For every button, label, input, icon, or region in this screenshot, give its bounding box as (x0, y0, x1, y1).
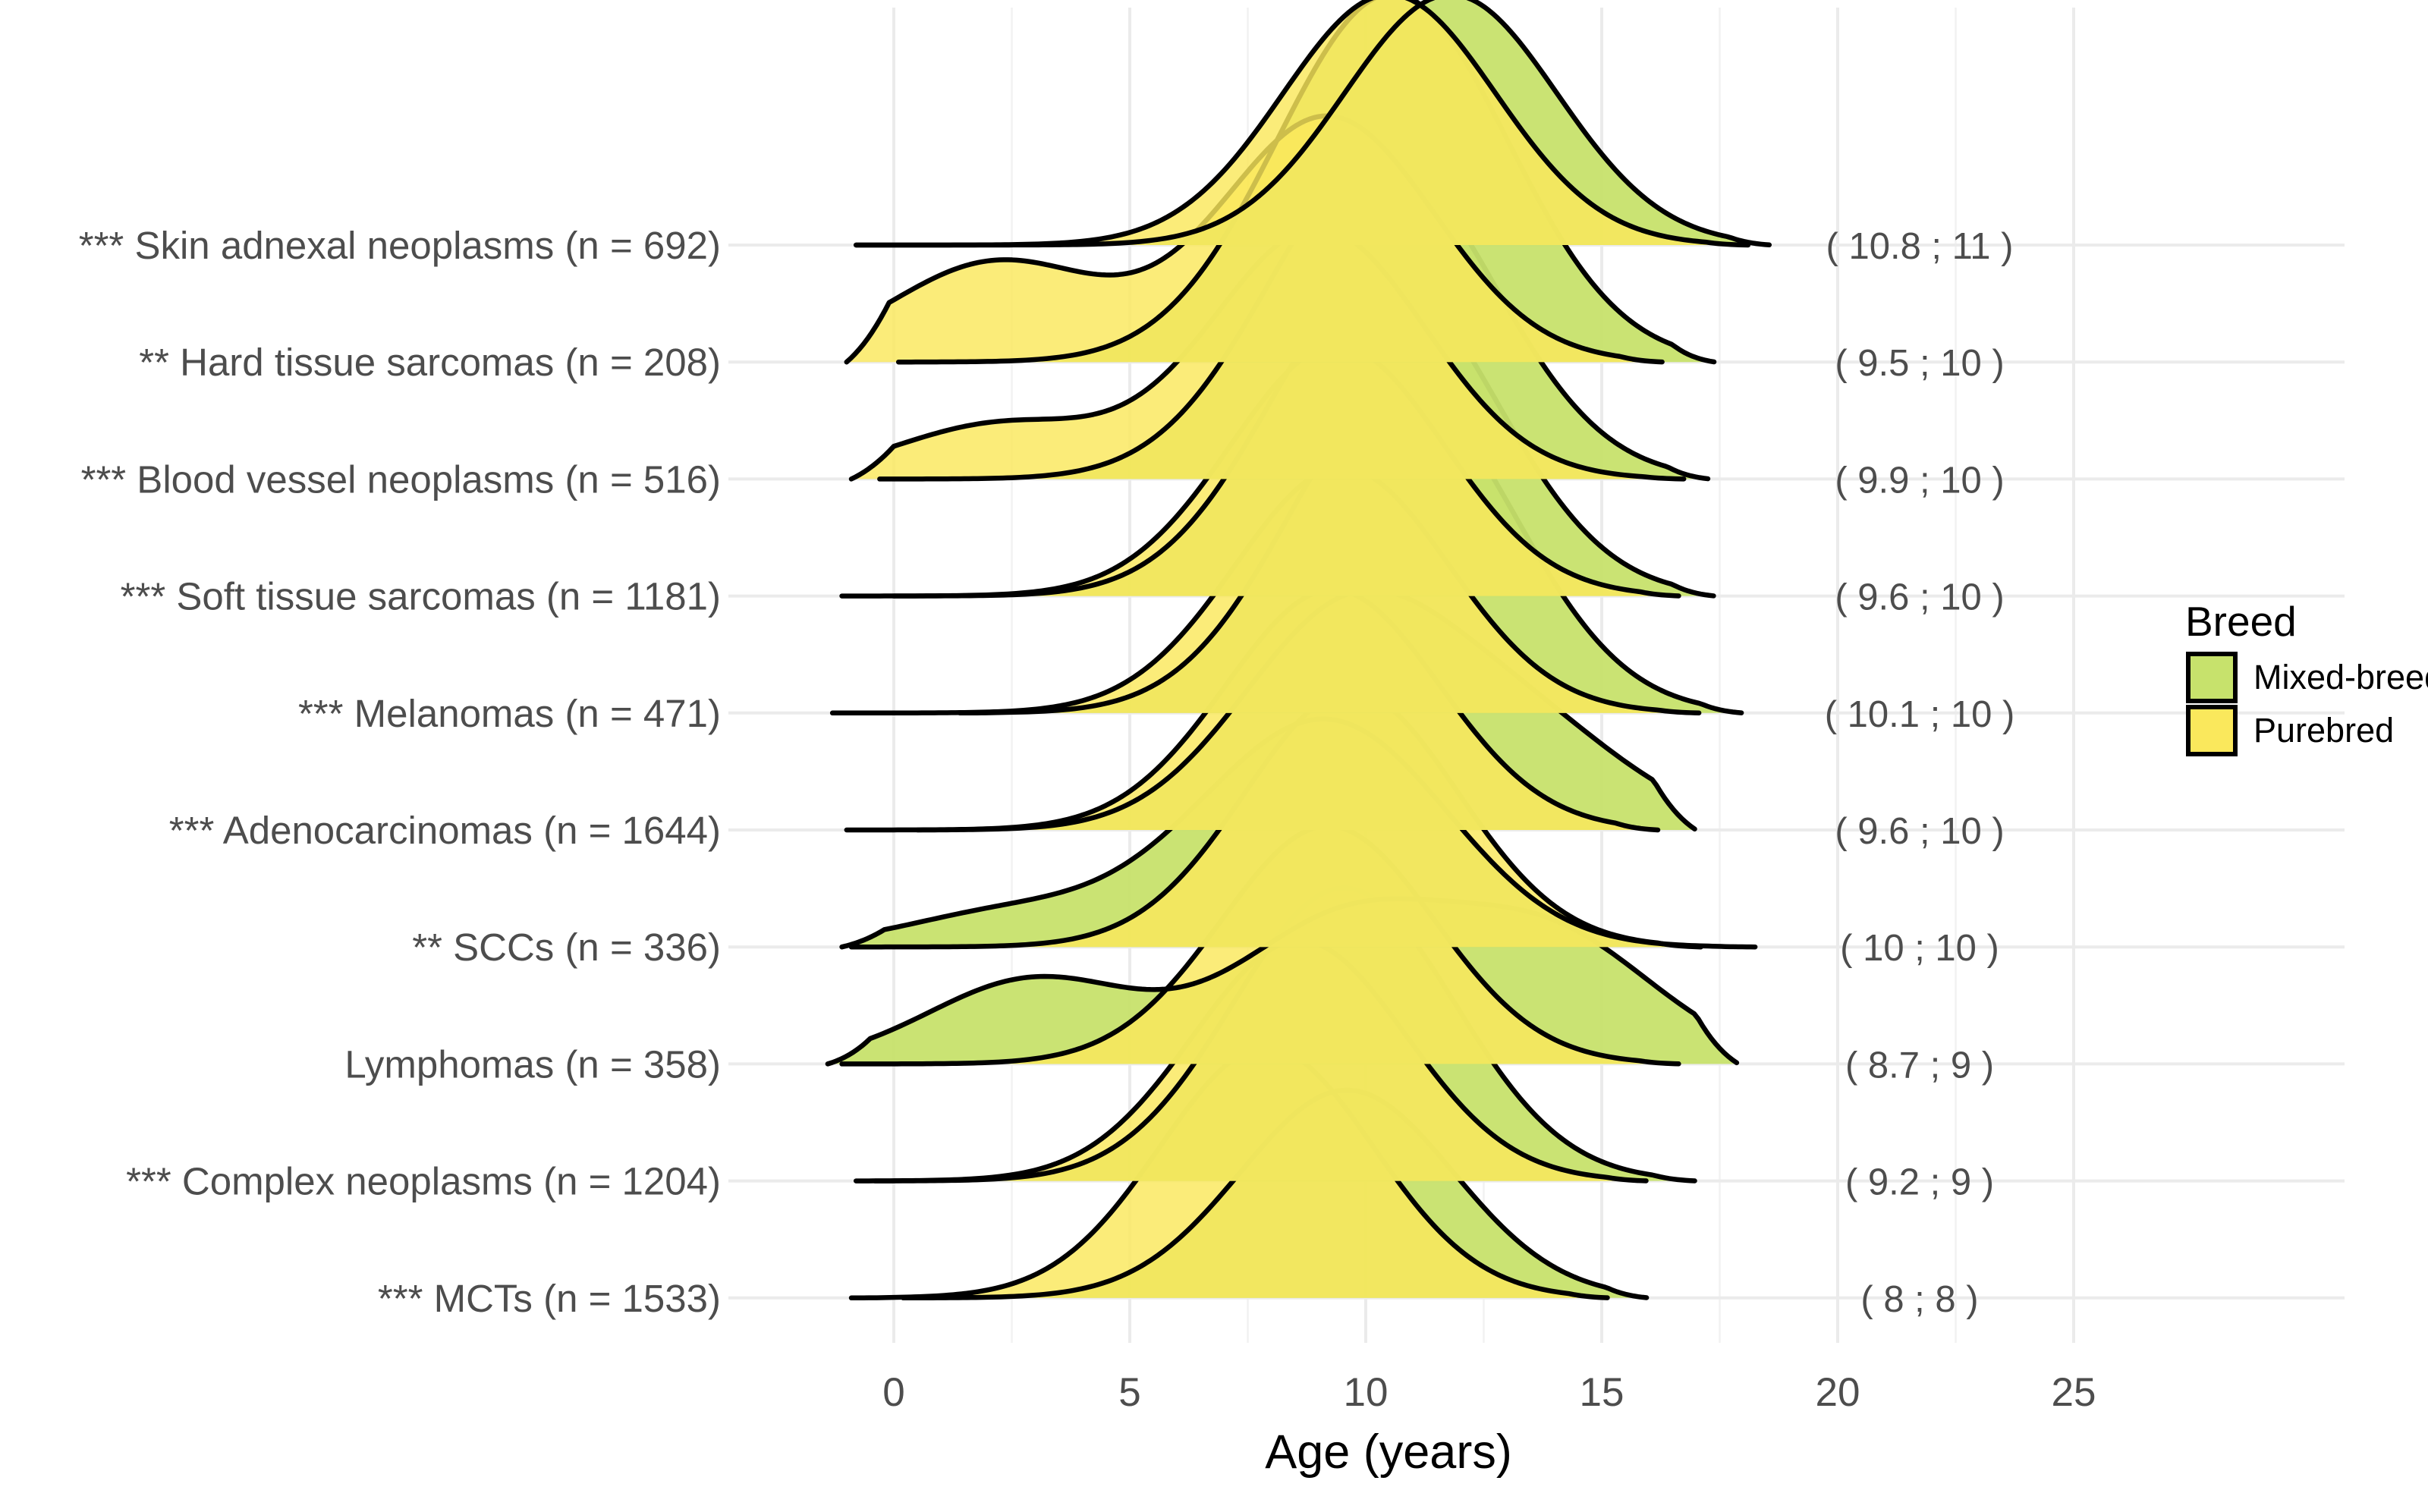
y-axis-label-skin-adnexal-neoplasms[interactable]: *** Skin adnexal neoplasms (n = 692) (79, 224, 721, 267)
row-annotation-lymphomas: ( 8.7 ; 9 ) (1845, 1045, 1994, 1086)
y-axis-label-adenocarcinomas[interactable]: *** Adenocarcinomas (n = 1644) (169, 809, 721, 852)
y-axis-label-melanomas[interactable]: *** Melanomas (n = 471) (298, 692, 721, 735)
row-annotation-adenocarcinomas: ( 9.6 ; 10 ) (1835, 811, 2004, 852)
row-annotation-soft-tissue-sarcomas: ( 9.6 ; 10 ) (1835, 577, 2004, 618)
x-tick-label-10: 10 (1344, 1370, 1389, 1415)
x-tick-label-5: 5 (1118, 1370, 1140, 1415)
row-annotation-hard-tissue-sarcomas: ( 9.5 ; 10 ) (1835, 343, 2004, 384)
x-tick-label-25: 25 (2052, 1370, 2096, 1415)
legend-swatch-mixed-breed[interactable] (2188, 654, 2235, 701)
row-annotation-melanomas: ( 10.1 ; 10 ) (1825, 694, 2015, 735)
legend-title: Breed (2185, 598, 2297, 645)
x-axis-title: Age (years) (1265, 1426, 1512, 1479)
y-axis-label-complex-neoplasms[interactable]: *** Complex neoplasms (n = 1204) (126, 1160, 721, 1203)
ridgeline-chart-root: *** Skin adnexal neoplasms (n = 692)** H… (0, 0, 2428, 1512)
legend-label-mixed-breed[interactable]: Mixed-breed (2253, 658, 2428, 696)
y-axis-label-blood-vessel-neoplasms[interactable]: *** Blood vessel neoplasms (n = 516) (81, 457, 721, 501)
y-axis-label-sccs[interactable]: ** SCCs (n = 336) (412, 926, 721, 969)
x-tick-label-15: 15 (1580, 1370, 1624, 1415)
row-annotation-sccs: ( 10 ; 10 ) (1840, 928, 1999, 969)
row-annotation-mcts: ( 8 ; 8 ) (1860, 1279, 1978, 1320)
y-axis-label-soft-tissue-sarcomas[interactable]: *** Soft tissue sarcomas (n = 1181) (121, 575, 721, 618)
row-annotation-blood-vessel-neoplasms: ( 9.9 ; 10 ) (1835, 460, 2004, 501)
y-axis-label-hard-tissue-sarcomas[interactable]: ** Hard tissue sarcomas (n = 208) (139, 341, 721, 384)
x-tick-label-0: 0 (882, 1370, 904, 1415)
ridgeline-plot-svg: *** Skin adnexal neoplasms (n = 692)** H… (0, 0, 2428, 1512)
y-axis-label-lymphomas[interactable]: Lymphomas (n = 358) (344, 1042, 721, 1086)
legend-label-purebred[interactable]: Purebred (2253, 711, 2394, 750)
x-tick-label-20: 20 (1816, 1370, 1860, 1415)
row-annotation-skin-adnexal-neoplasms: ( 10.8 ; 11 ) (1826, 226, 2014, 267)
y-axis-label-mcts[interactable]: *** MCTs (n = 1533) (378, 1277, 721, 1320)
legend-swatch-purebred[interactable] (2188, 707, 2235, 754)
row-annotation-complex-neoplasms: ( 9.2 ; 9 ) (1845, 1162, 1994, 1203)
